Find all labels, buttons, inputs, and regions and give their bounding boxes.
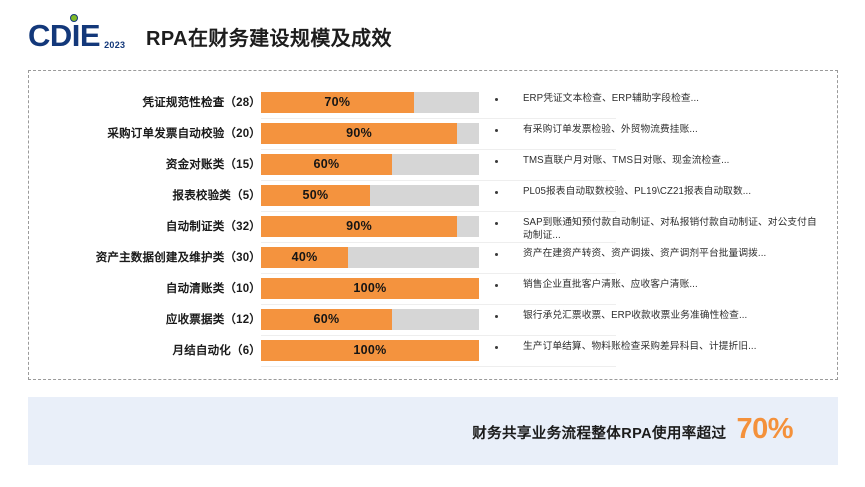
- row-category-label: 资产主数据创建及维护类（30）: [51, 249, 261, 265]
- bullet-icon: [495, 129, 498, 132]
- bar-track: 60%: [261, 309, 479, 330]
- logo-bulb-icon: [70, 14, 78, 22]
- chart-panel: 凭证规范性检查（28）70%ERP凭证文本检查、ERP辅助字段检查...采购订单…: [28, 70, 838, 380]
- row-category-label: 采购订单发票自动校验（20）: [51, 125, 261, 141]
- logo-wordmark: CDIE: [28, 20, 100, 51]
- chart-row: 报表校验类（5）50%PL05报表自动取数校验、PL19\CZ21报表自动取数.…: [29, 182, 839, 213]
- row-separator: [261, 180, 616, 181]
- row-category-label: 报表校验类（5）: [51, 187, 261, 203]
- row-separator: [261, 335, 616, 336]
- bar-value-label: 90%: [261, 123, 457, 144]
- bar-track: 100%: [261, 278, 479, 299]
- row-description: ERP凭证文本检查、ERP辅助字段检查...: [523, 92, 823, 105]
- row-category-label: 凭证规范性检查（28）: [51, 94, 261, 110]
- row-description: 生产订单结算、物料账检查采购差异科目、计提折旧...: [523, 340, 823, 353]
- chart-row: 自动制证类（32）90%SAP到账通知预付款自动制证、对私报销付款自动制证、对公…: [29, 213, 839, 244]
- bar-value-label: 90%: [261, 216, 457, 237]
- row-separator: [261, 211, 616, 212]
- footer-summary: 财务共享业务流程整体RPA使用率超过 70%: [472, 413, 793, 446]
- chart-row: 凭证规范性检查（28）70%ERP凭证文本检查、ERP辅助字段检查...: [29, 89, 839, 120]
- footer-summary-label: 财务共享业务流程整体RPA使用率超过: [472, 422, 726, 443]
- page-title: RPA在财务建设规模及成效: [146, 22, 392, 51]
- row-separator: [261, 273, 616, 274]
- chart-row: 应收票据类（12）60%银行承兑汇票收票、ERP收款收票业务准确性检查...: [29, 306, 839, 337]
- bullet-icon: [495, 191, 498, 194]
- logo-year-label: 2023: [104, 40, 125, 50]
- bullet-icon: [495, 253, 498, 256]
- slide-header: CDIE 2023 RPA在财务建设规模及成效: [0, 0, 865, 66]
- row-description: TMS直联户月对账、TMS日对账、现金流检查...: [523, 154, 823, 167]
- row-category-label: 自动清账类（10）: [51, 280, 261, 296]
- chart-row: 月结自动化（6）100%生产订单结算、物料账检查采购差异科目、计提折旧...: [29, 337, 839, 368]
- bullet-icon: [495, 315, 498, 318]
- bar-track: 50%: [261, 185, 479, 206]
- row-description: SAP到账通知预付款自动制证、对私报销付款自动制证、对公支付自动制证...: [523, 216, 823, 242]
- bar-track: 90%: [261, 123, 479, 144]
- row-separator: [261, 118, 616, 119]
- bar-track: 70%: [261, 92, 479, 113]
- row-description: 有采购订单发票检验、外贸物流费挂账...: [523, 123, 823, 136]
- chart-row: 资产主数据创建及维护类（30）40%资产在建资产转资、资产调拨、资产调剂平台批量…: [29, 244, 839, 275]
- bar-track: 60%: [261, 154, 479, 175]
- bar-value-label: 100%: [261, 340, 479, 361]
- footer-summary-percent: 70%: [736, 413, 793, 446]
- bullet-icon: [495, 222, 498, 225]
- bar-value-label: 70%: [261, 92, 414, 113]
- bullet-icon: [495, 346, 498, 349]
- bullet-icon: [495, 98, 498, 101]
- slide-root: CDIE 2023 RPA在财务建设规模及成效 凭证规范性检查（28）70%ER…: [0, 0, 865, 487]
- bullet-icon: [495, 160, 498, 163]
- row-category-label: 自动制证类（32）: [51, 218, 261, 234]
- chart-row: 采购订单发票自动校验（20）90%有采购订单发票检验、外贸物流费挂账...: [29, 120, 839, 151]
- bar-track: 100%: [261, 340, 479, 361]
- bar-value-label: 100%: [261, 278, 479, 299]
- row-category-label: 资金对账类（15）: [51, 156, 261, 172]
- footer-panel: 财务共享业务流程整体RPA使用率超过 70%: [28, 397, 838, 465]
- bullet-icon: [495, 284, 498, 287]
- logo-text: CDIE: [28, 18, 100, 53]
- row-separator: [261, 304, 616, 305]
- bar-value-label: 40%: [261, 247, 348, 268]
- row-separator: [261, 366, 616, 367]
- row-description: 资产在建资产转资、资产调拨、资产调剂平台批量调拨...: [523, 247, 823, 260]
- row-category-label: 应收票据类（12）: [51, 311, 261, 327]
- bar-track: 90%: [261, 216, 479, 237]
- chart-row: 自动清账类（10）100%销售企业直批客户清账、应收客户清账...: [29, 275, 839, 306]
- row-separator: [261, 242, 616, 243]
- bar-value-label: 60%: [261, 154, 392, 175]
- row-description: 银行承兑汇票收票、ERP收款收票业务准确性检查...: [523, 309, 823, 322]
- row-separator: [261, 149, 616, 150]
- cdie-logo: CDIE 2023: [28, 20, 125, 51]
- row-description: 销售企业直批客户清账、应收客户清账...: [523, 278, 823, 291]
- bar-value-label: 60%: [261, 309, 392, 330]
- bar-value-label: 50%: [261, 185, 370, 206]
- row-description: PL05报表自动取数校验、PL19\CZ21报表自动取数...: [523, 185, 823, 198]
- chart-row: 资金对账类（15）60%TMS直联户月对账、TMS日对账、现金流检查...: [29, 151, 839, 182]
- bar-track: 40%: [261, 247, 479, 268]
- row-category-label: 月结自动化（6）: [51, 342, 261, 358]
